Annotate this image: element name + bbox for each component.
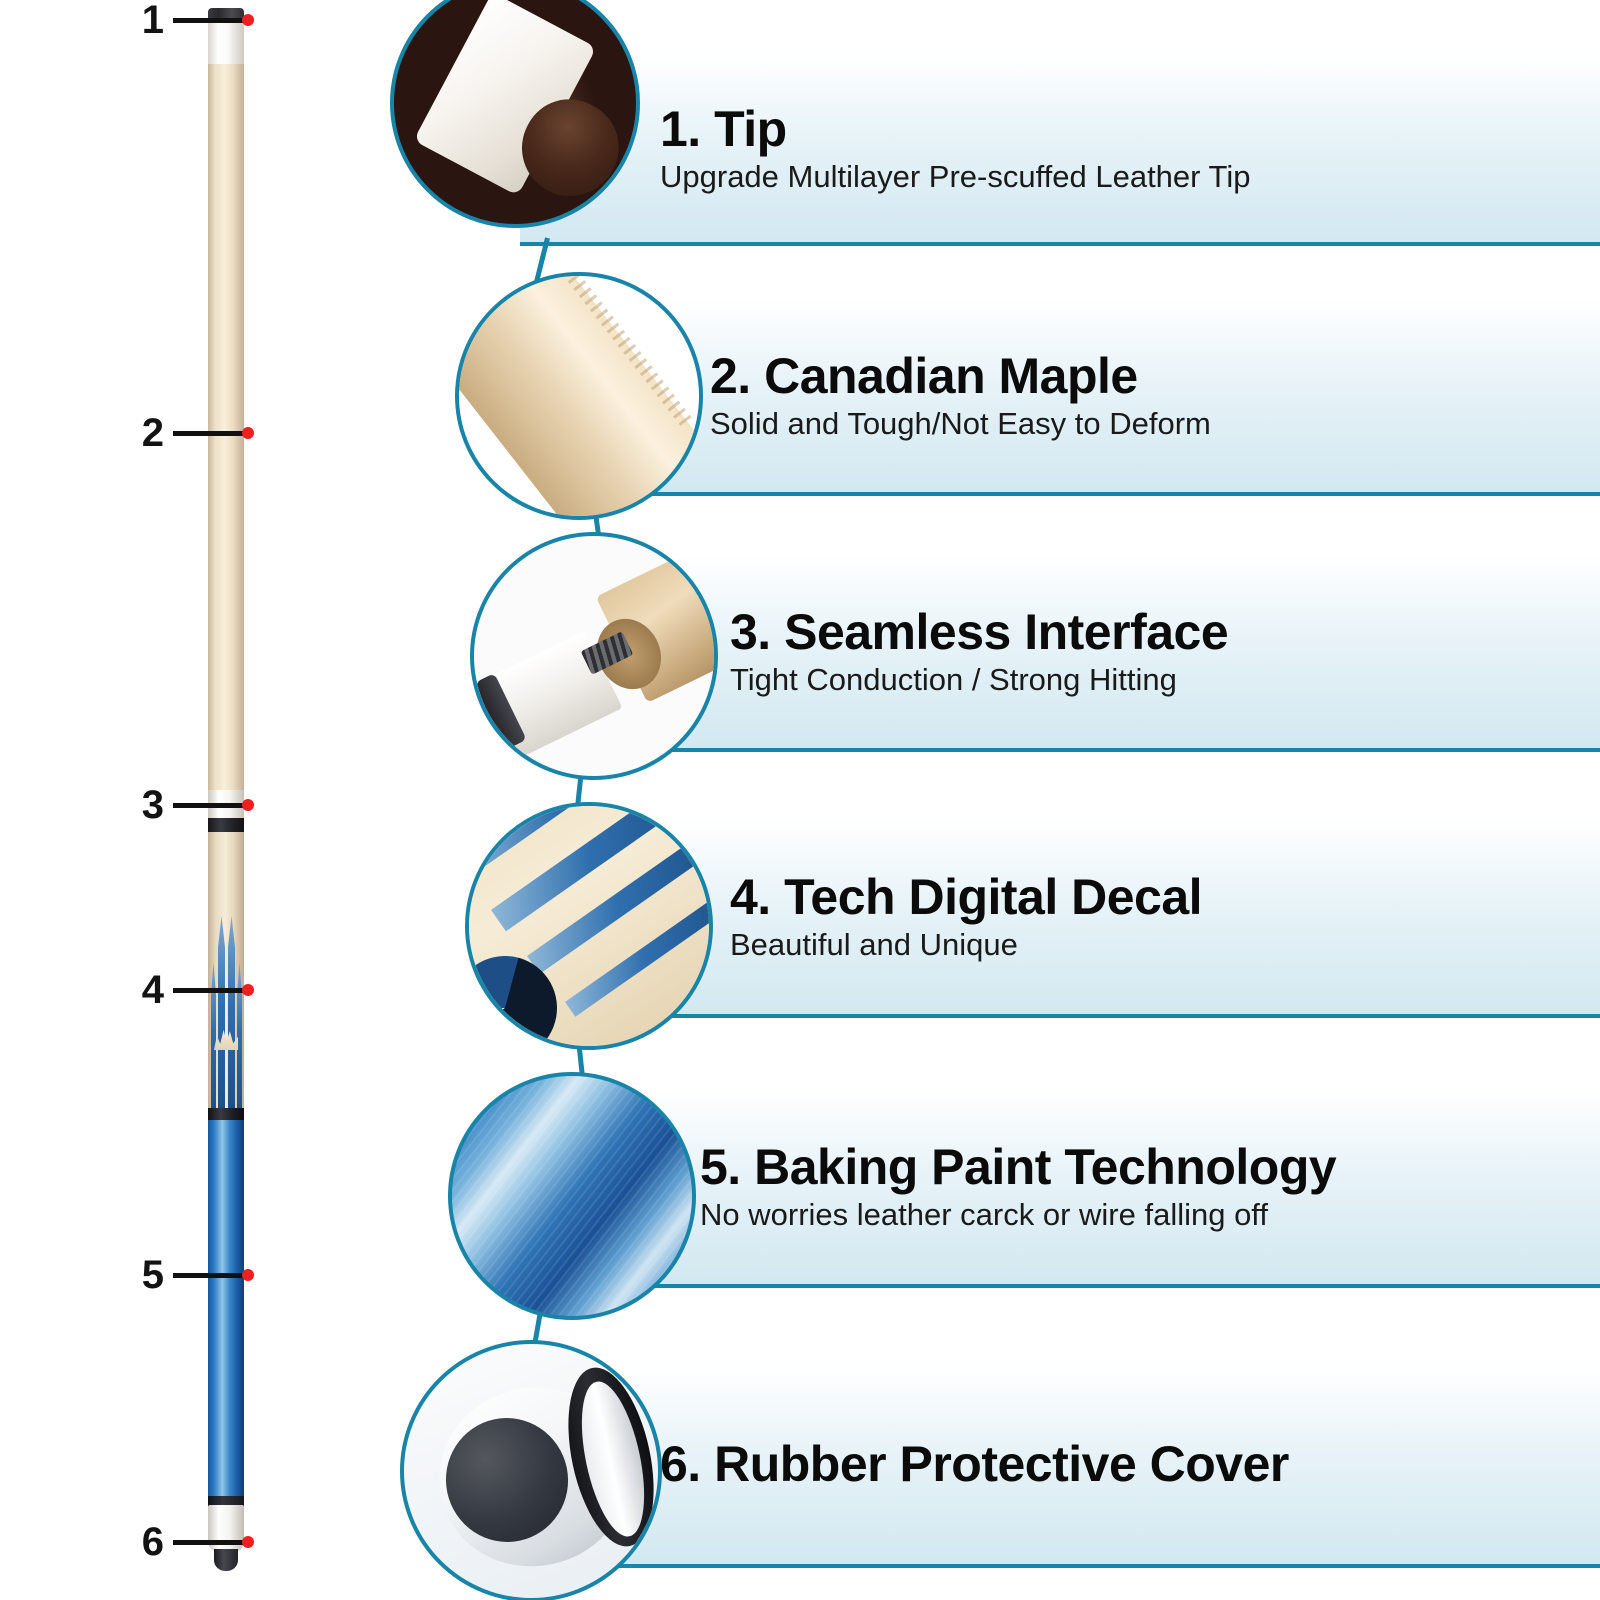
feature-title: 5. Baking Paint Technology — [700, 1141, 1336, 1193]
feature-text-3: 3. Seamless Interface Tight Conduction /… — [730, 556, 1228, 748]
feature-title: 6. Rubber Protective Cover — [660, 1438, 1289, 1490]
maple-shaft-closeup-photo — [455, 272, 703, 520]
feature-title: 4. Tech Digital Decal — [730, 871, 1202, 923]
photo-fill — [459, 276, 699, 516]
digital-decal-closeup-photo — [465, 802, 713, 1050]
feature-subtitle: No worries leather carck or wire falling… — [700, 1197, 1336, 1233]
feature-panel-6: 6. Rubber Protective Cover — [520, 1368, 1600, 1568]
feature-subtitle: Tight Conduction / Strong Hitting — [730, 662, 1228, 698]
feature-text-6: 6. Rubber Protective Cover — [660, 1368, 1289, 1564]
rubber-cover-closeup-photo — [400, 1340, 662, 1600]
feature-text-5: 5. Baking Paint Technology No worries le… — [700, 1090, 1336, 1284]
baking-paint-closeup-photo — [448, 1072, 696, 1320]
feature-text-1: 1. Tip Upgrade Multilayer Pre-scuffed Le… — [660, 56, 1250, 242]
feature-list: 1. Tip Upgrade Multilayer Pre-scuffed Le… — [0, 0, 1600, 1600]
feature-subtitle: Upgrade Multilayer Pre-scuffed Leather T… — [660, 159, 1250, 195]
infographic-canvas: 1 2 3 4 5 6 — [0, 0, 1600, 1600]
feature-title: 2. Canadian Maple — [710, 350, 1211, 402]
joint-screw-closeup-photo — [470, 532, 718, 780]
feature-text-4: 4. Tech Digital Decal Beautiful and Uniq… — [730, 820, 1202, 1014]
feature-subtitle: Beautiful and Unique — [730, 927, 1202, 963]
feature-panel-1: 1. Tip Upgrade Multilayer Pre-scuffed Le… — [520, 56, 1600, 246]
feature-title: 1. Tip — [660, 103, 1250, 155]
feature-subtitle: Solid and Tough/Not Easy to Deform — [710, 406, 1211, 442]
feature-title: 3. Seamless Interface — [730, 606, 1228, 658]
feature-text-2: 2. Canadian Maple Solid and Tough/Not Ea… — [710, 300, 1211, 492]
